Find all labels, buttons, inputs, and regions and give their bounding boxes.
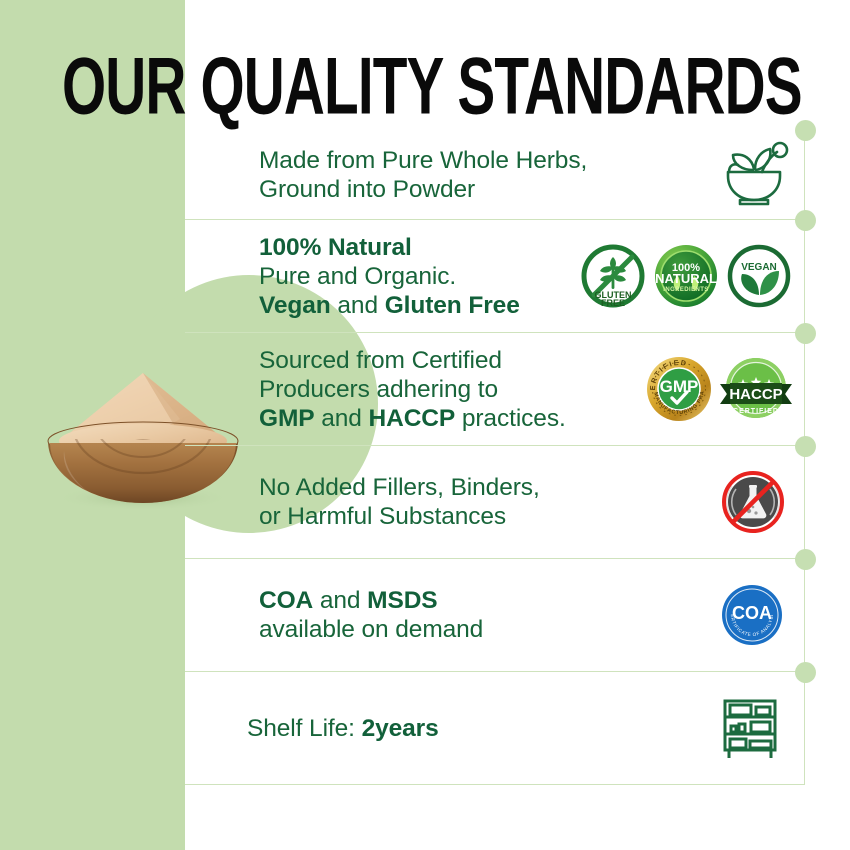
svg-text:GMP: GMP: [660, 377, 699, 396]
row-marker-dot: [795, 549, 816, 570]
row-line-1-label: Shelf Life:: [247, 715, 362, 742]
svg-text:HACCP: HACCP: [729, 386, 782, 403]
100-natural-badge: 100% NATURAL INGREDIENTS: [653, 243, 719, 309]
row-line-2: available on demand: [259, 616, 483, 643]
standards-list: Made from Pure Whole Herbs, Ground into …: [185, 130, 805, 785]
row-line-1: 100% Natural: [259, 234, 412, 261]
shelf-rack-icon: [718, 695, 782, 761]
row-line-3-vegan: Vegan: [259, 292, 331, 319]
row-line-3-and: and: [331, 292, 385, 319]
gmp-badge: CERTIFIED GOOD MANUFACTURING PRACTICE GM…: [642, 352, 716, 426]
row-icons: GLUTEN FREE: [580, 243, 792, 309]
row-icons: [718, 695, 782, 761]
mortar-pestle-icon: [718, 142, 790, 208]
svg-text:FREE: FREE: [601, 298, 625, 308]
gluten-free-badge: GLUTEN FREE: [580, 243, 646, 309]
standard-row-coa-msds[interactable]: COA and MSDS available on demand: [185, 559, 805, 672]
row-icons: [720, 469, 786, 535]
row-line-2: Ground into Powder: [259, 176, 475, 203]
row-line-1-coa: COA: [259, 587, 313, 614]
svg-text:COA: COA: [732, 603, 772, 623]
row-marker-dot: [795, 662, 816, 683]
row-line-2: Pure and Organic.: [259, 263, 456, 290]
svg-text:CERTIFIED: CERTIFIED: [733, 408, 779, 415]
row-icons: [718, 142, 790, 208]
row-marker-dot: [795, 210, 816, 231]
row-line-1: No Added Fillers, Binders,: [259, 474, 540, 501]
svg-text:NATURAL: NATURAL: [655, 271, 717, 286]
standard-row-shelf-life[interactable]: Shelf Life: 2years: [185, 672, 805, 785]
row-line-2: or Harmful Substances: [259, 503, 506, 530]
row-line-2: Producers adhering to: [259, 376, 498, 403]
row-text: Shelf Life: 2years: [247, 714, 439, 743]
row-text: 100% Natural Pure and Organic. Vegan and…: [259, 233, 520, 320]
svg-text:VEGAN: VEGAN: [741, 262, 777, 273]
row-text: COA and MSDS available on demand: [259, 586, 483, 644]
vegan-badge: VEGAN: [726, 243, 792, 309]
row-line-1-and: and: [313, 587, 367, 614]
row-marker-dot: [795, 323, 816, 344]
row-line-3-gluten-free: Gluten Free: [385, 292, 520, 319]
svg-text:INGREDIENTS: INGREDIENTS: [663, 287, 708, 293]
row-line-3-haccp: HACCP: [369, 405, 456, 432]
row-marker-dot: [795, 436, 816, 457]
standard-row-pure-whole-herbs[interactable]: Made from Pure Whole Herbs, Ground into …: [185, 130, 805, 220]
row-line-1-msds: MSDS: [367, 587, 437, 614]
row-line-3-tail: practices.: [455, 405, 566, 432]
row-icons: COA CERTIFICATE OF ANALYSIS: [720, 583, 784, 647]
row-text: No Added Fillers, Binders, or Harmful Su…: [259, 473, 540, 531]
infographic-page: OUR QUALITY STANDARDS Made from Pure Who…: [0, 0, 850, 850]
row-line-3-and: and: [315, 405, 369, 432]
row-line-1: Sourced from Certified: [259, 347, 502, 374]
standard-row-natural-organic[interactable]: 100% Natural Pure and Organic. Vegan and…: [185, 220, 805, 333]
haccp-badge: HACCP CERTIFIED: [718, 352, 794, 426]
row-text: Made from Pure Whole Herbs, Ground into …: [259, 146, 587, 204]
standard-row-certified-producers[interactable]: Sourced from Certified Producers adherin…: [185, 333, 805, 446]
standard-row-no-fillers[interactable]: No Added Fillers, Binders, or Harmful Su…: [185, 446, 805, 559]
row-text: Sourced from Certified Producers adherin…: [259, 346, 566, 433]
no-chemicals-icon: [720, 469, 786, 535]
row-icons: CERTIFIED GOOD MANUFACTURING PRACTICE GM…: [642, 352, 794, 426]
row-line-1: Made from Pure Whole Herbs,: [259, 147, 587, 174]
row-line-1-value: 2years: [362, 715, 439, 742]
row-line-3-gmp: GMP: [259, 405, 315, 432]
page-title: OUR QUALITY STANDARDS: [62, 45, 802, 126]
coa-badge: COA CERTIFICATE OF ANALYSIS: [720, 583, 784, 647]
